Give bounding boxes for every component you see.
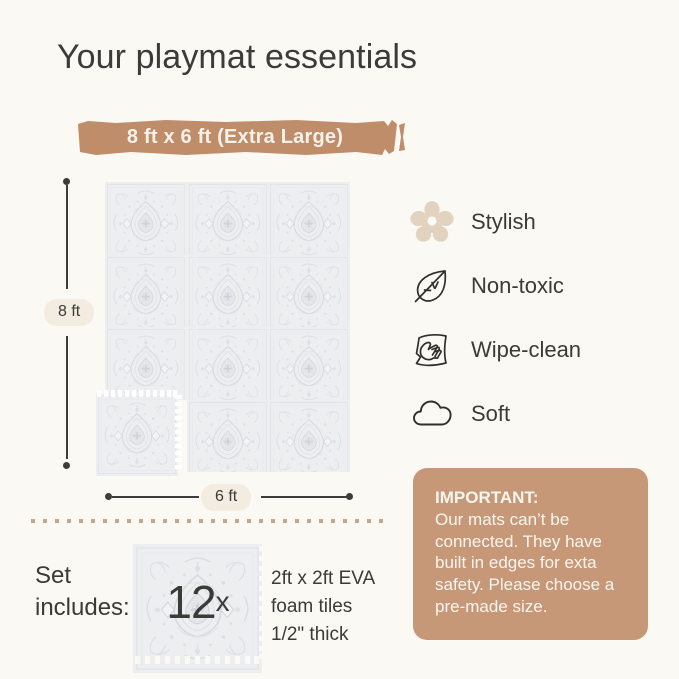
features-list: Stylish Non-toxic [406, 190, 581, 446]
set-includes-label: Set includes: [35, 560, 130, 623]
tile-description-line-3: 1/2" thick [271, 621, 375, 649]
puzzle-tab-edge-top-icon [96, 390, 178, 397]
wipe-clean-icon [406, 328, 458, 372]
mat-tile [268, 400, 350, 473]
important-line-4: safety. Please choose a [435, 574, 630, 596]
infographic-page: Your playmat essentials 8 ft x 6 ft (Ext… [0, 0, 679, 679]
puzzle-tab-edge-right-icon [175, 394, 182, 472]
size-banner-label: 8 ft x 6 ft (Extra Large) [76, 117, 394, 157]
height-dim-label: 8 ft [44, 299, 94, 326]
leaf-icon [406, 264, 458, 308]
tile-description-line-2: foam tiles [271, 593, 375, 621]
mat-tile [268, 182, 350, 255]
dotted-divider [31, 519, 383, 523]
width-dim-line-right [261, 496, 347, 498]
feature-label: Stylish [471, 209, 536, 235]
set-includes-line-2: includes: [35, 592, 130, 624]
feature-label: Non-toxic [471, 273, 564, 299]
important-heading: IMPORTANT: [435, 487, 630, 509]
mat-tile [187, 255, 269, 328]
feature-item-non-toxic: Non-toxic [406, 254, 581, 318]
feature-label: Wipe-clean [471, 337, 581, 363]
mat-tile [105, 255, 187, 328]
width-dim-dot-left [105, 493, 112, 500]
tile-quantity-label: 12x [133, 544, 262, 659]
tile-quantity-number: 12 [166, 575, 215, 629]
page-title: Your playmat essentials [57, 38, 417, 77]
tile-quantity-suffix: x [216, 586, 229, 618]
mat-tile [105, 182, 187, 255]
included-tile-sample: 12x [133, 544, 262, 659]
feature-label: Soft [471, 401, 510, 427]
feature-item-soft: Soft [406, 382, 581, 446]
mat-tile [187, 182, 269, 255]
flower-icon [406, 200, 458, 244]
mat-tile [187, 400, 269, 473]
width-dim-dot-right [346, 493, 353, 500]
height-dim-dot-bottom [63, 462, 70, 469]
important-line-5: pre-made size. [435, 596, 630, 618]
height-dim-line-upper [66, 185, 68, 289]
width-dim-line-left [112, 496, 199, 498]
height-dim-dot-top [63, 178, 70, 185]
height-dim-line-lower [66, 336, 68, 459]
important-line-2: connected. They have [435, 531, 630, 553]
set-includes-line-1: Set [35, 560, 130, 592]
mat-tile [268, 255, 350, 328]
cloud-icon [406, 392, 458, 436]
mat-tile [268, 327, 350, 400]
feature-item-wipe-clean: Wipe-clean [406, 318, 581, 382]
important-line-1: Our mats can’t be [435, 509, 630, 531]
width-dim-label: 6 ft [201, 484, 251, 511]
mat-tile [105, 327, 187, 400]
feature-item-stylish: Stylish [406, 190, 581, 254]
size-banner: 8 ft x 6 ft (Extra Large) [76, 117, 406, 157]
important-callout: IMPORTANT: Our mats can’t be connected. … [413, 468, 648, 640]
detached-corner-tile [96, 394, 178, 472]
tile-description-line-1: 2ft x 2ft EVA [271, 565, 375, 593]
mat-diagram: 8 ft [33, 178, 383, 508]
important-line-3: built in edges for exta [435, 552, 630, 574]
tile-description: 2ft x 2ft EVA foam tiles 1/2" thick [271, 565, 375, 649]
mat-tile [187, 327, 269, 400]
